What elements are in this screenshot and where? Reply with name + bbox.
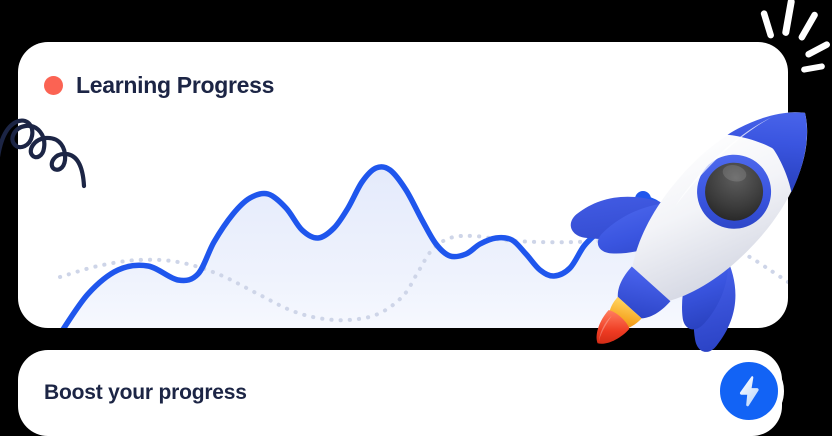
squiggle-doodle: [0, 112, 86, 200]
chart-end-marker[interactable]: [635, 191, 651, 207]
boost-button[interactable]: [714, 356, 784, 426]
screenshot-root: Learning Progress: [0, 0, 832, 436]
learning-progress-card: Learning Progress: [18, 42, 788, 328]
boost-progress-card: Boost your progress: [18, 350, 782, 436]
chart-area-fill: [60, 167, 682, 328]
card-header: Learning Progress: [44, 72, 274, 99]
speed-lines: [748, 0, 832, 72]
page-title: Learning Progress: [76, 72, 274, 99]
boost-label: Boost your progress: [44, 381, 247, 405]
lightning-bolt-icon: [736, 375, 762, 407]
status-dot: [44, 76, 63, 95]
